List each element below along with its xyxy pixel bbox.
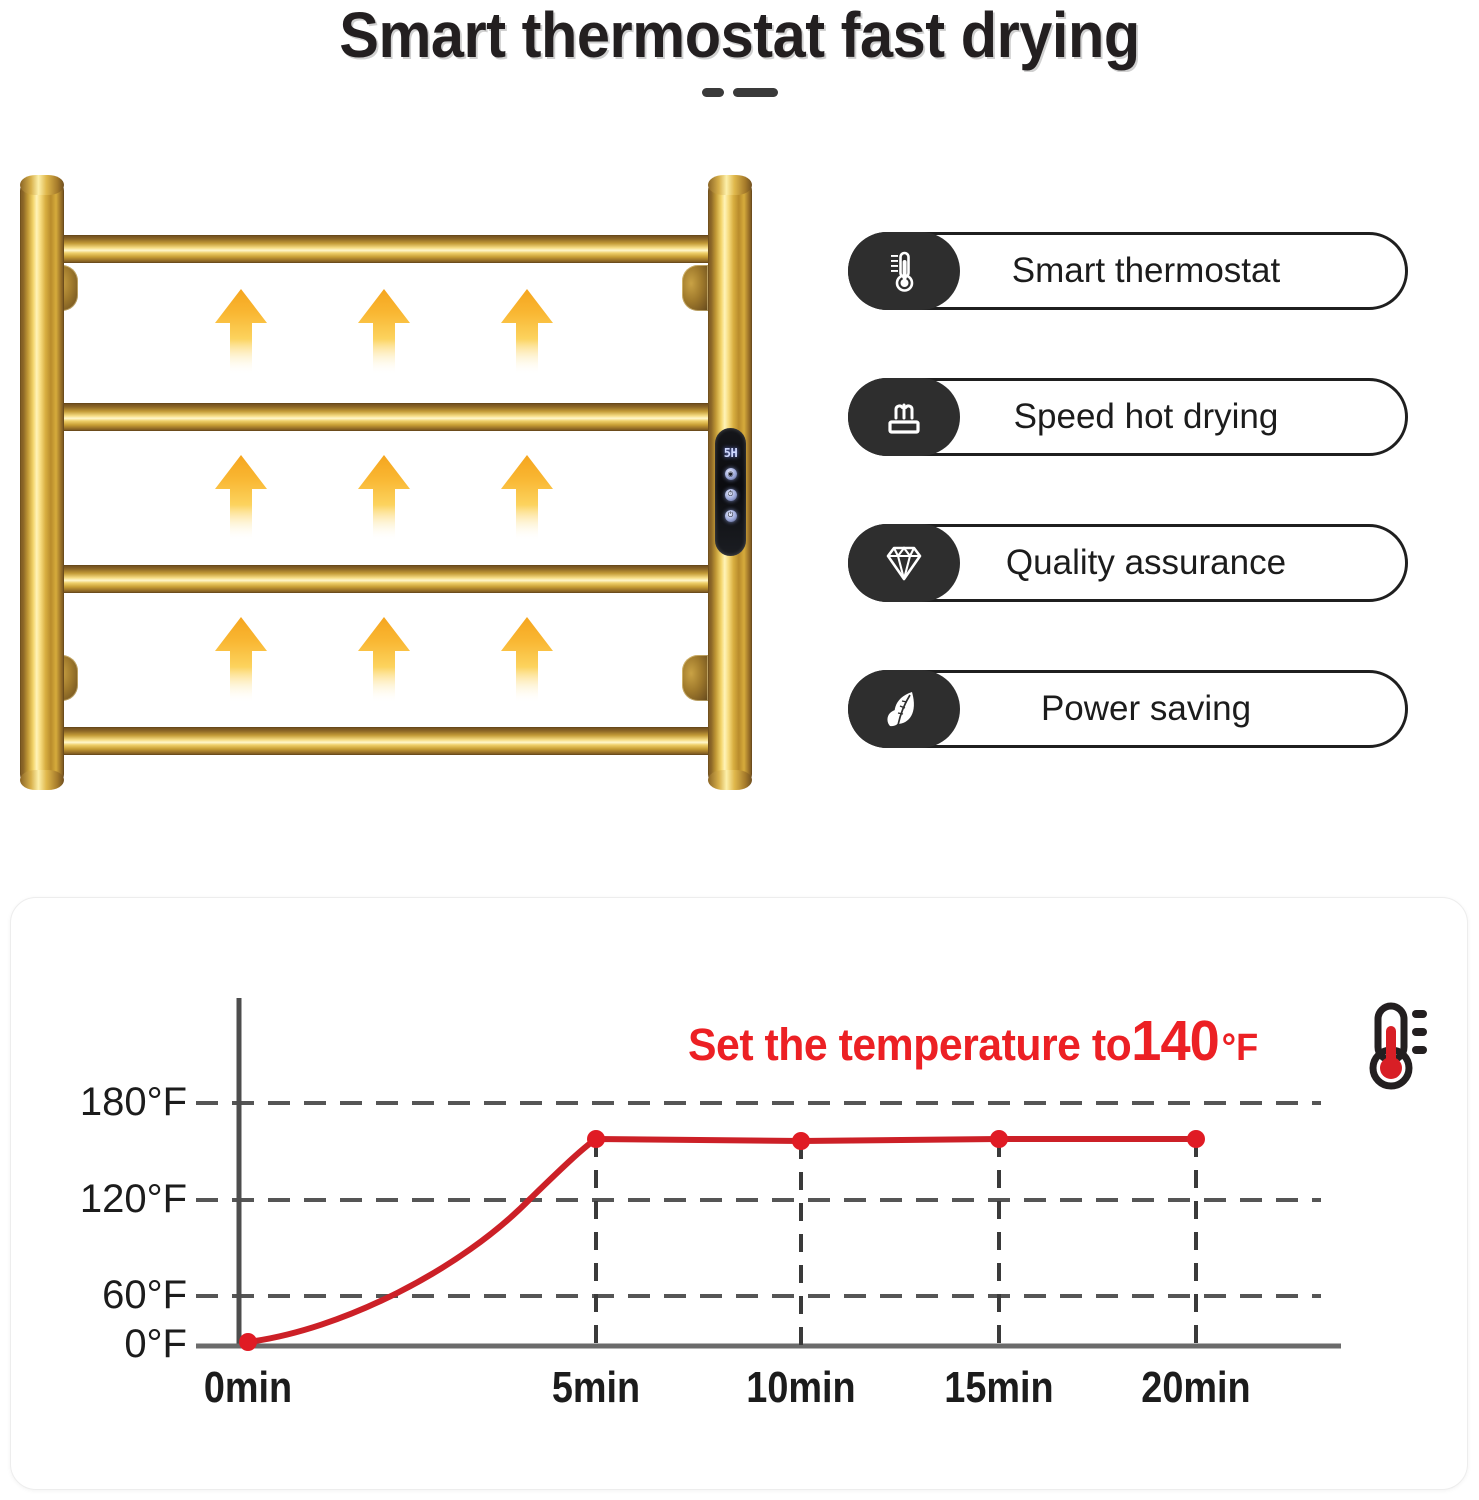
heat-arrow — [499, 615, 555, 703]
feature-pill-quality-assurance[interactable]: Quality assurance — [848, 524, 1408, 602]
x-tick-label-5min: 5min — [523, 1363, 669, 1413]
x-tick-label-15min: 15min — [926, 1363, 1072, 1413]
post-cap-top — [20, 175, 64, 195]
feature-list: Smart thermostat Speed hot drying Qualit… — [848, 232, 1408, 816]
thermometer-icon — [848, 232, 960, 310]
heat-arrow — [499, 287, 555, 375]
thermometer-red-icon — [1348, 998, 1444, 1094]
y-tick-label-60: 60°F — [27, 1273, 187, 1318]
x-tick-label-20min: 20min — [1123, 1363, 1269, 1413]
wall-bracket-bottom-right — [682, 655, 708, 701]
temperature-chart-card: 180°F 120°F 60°F 0°F 0min 5min 10min 15m… — [10, 897, 1468, 1490]
data-point-20min — [1187, 1130, 1205, 1148]
dash-short — [702, 88, 724, 97]
towel-rail-1 — [52, 235, 728, 263]
feature-pill-smart-thermostat[interactable]: Smart thermostat — [848, 232, 1408, 310]
post-cap-bottom — [20, 770, 64, 790]
data-point-5min — [587, 1130, 605, 1148]
timer-display: 5H — [724, 447, 737, 459]
heat-arrow — [213, 453, 269, 541]
towel-rail-4 — [52, 727, 728, 755]
heat-arrow — [356, 615, 412, 703]
heat-arrow — [499, 453, 555, 541]
leaf-icon — [848, 670, 960, 748]
y-tick-label-0: 0°F — [27, 1322, 187, 1367]
temperature-curve — [248, 1139, 1196, 1342]
control-panel[interactable]: 5H ◉ ⏱ ⏻ — [715, 428, 746, 556]
post-cap-top — [708, 175, 752, 195]
x-tick-label-0min: 0min — [175, 1363, 321, 1413]
wall-bracket-top-right — [682, 265, 708, 311]
annotation-value: 140 — [1131, 1008, 1219, 1074]
annotation-text: Set the temperature to — [688, 1019, 1131, 1071]
y-tick-label-120: 120°F — [27, 1177, 187, 1222]
x-tick-label-10min: 10min — [728, 1363, 874, 1413]
page-title: Smart thermostat fast drying — [52, 0, 1427, 72]
vertical-post-left — [20, 175, 64, 790]
diamond-icon — [848, 524, 960, 602]
feature-pill-speed-hot-drying[interactable]: Speed hot drying — [848, 378, 1408, 456]
feature-pill-power-saving[interactable]: Power saving — [848, 670, 1408, 748]
heat-arrow — [356, 453, 412, 541]
towel-rail-2 — [52, 403, 728, 431]
mode-button[interactable]: ◉ — [725, 468, 737, 480]
heat-arrow — [356, 287, 412, 375]
y-tick-label-180: 180°F — [27, 1080, 187, 1125]
towel-rail-3 — [52, 565, 728, 593]
set-temperature-annotation: Set the temperature to 140 °F — [688, 1008, 1258, 1074]
double-dash-separator-icon — [0, 88, 1479, 97]
heat-arrow — [213, 615, 269, 703]
post-cap-bottom — [708, 770, 752, 790]
heat-arrow — [213, 287, 269, 375]
data-point-10min — [792, 1132, 810, 1150]
steam-dryer-icon — [848, 378, 960, 456]
data-point-0min — [239, 1333, 257, 1351]
data-point-15min — [990, 1130, 1008, 1148]
timer-button[interactable]: ⏱ — [725, 489, 737, 501]
annotation-unit: °F — [1222, 1027, 1259, 1070]
power-button[interactable]: ⏻ — [725, 510, 737, 522]
towel-rack-illustration: 5H ◉ ⏱ ⏻ — [8, 175, 768, 790]
dash-long — [733, 88, 778, 97]
